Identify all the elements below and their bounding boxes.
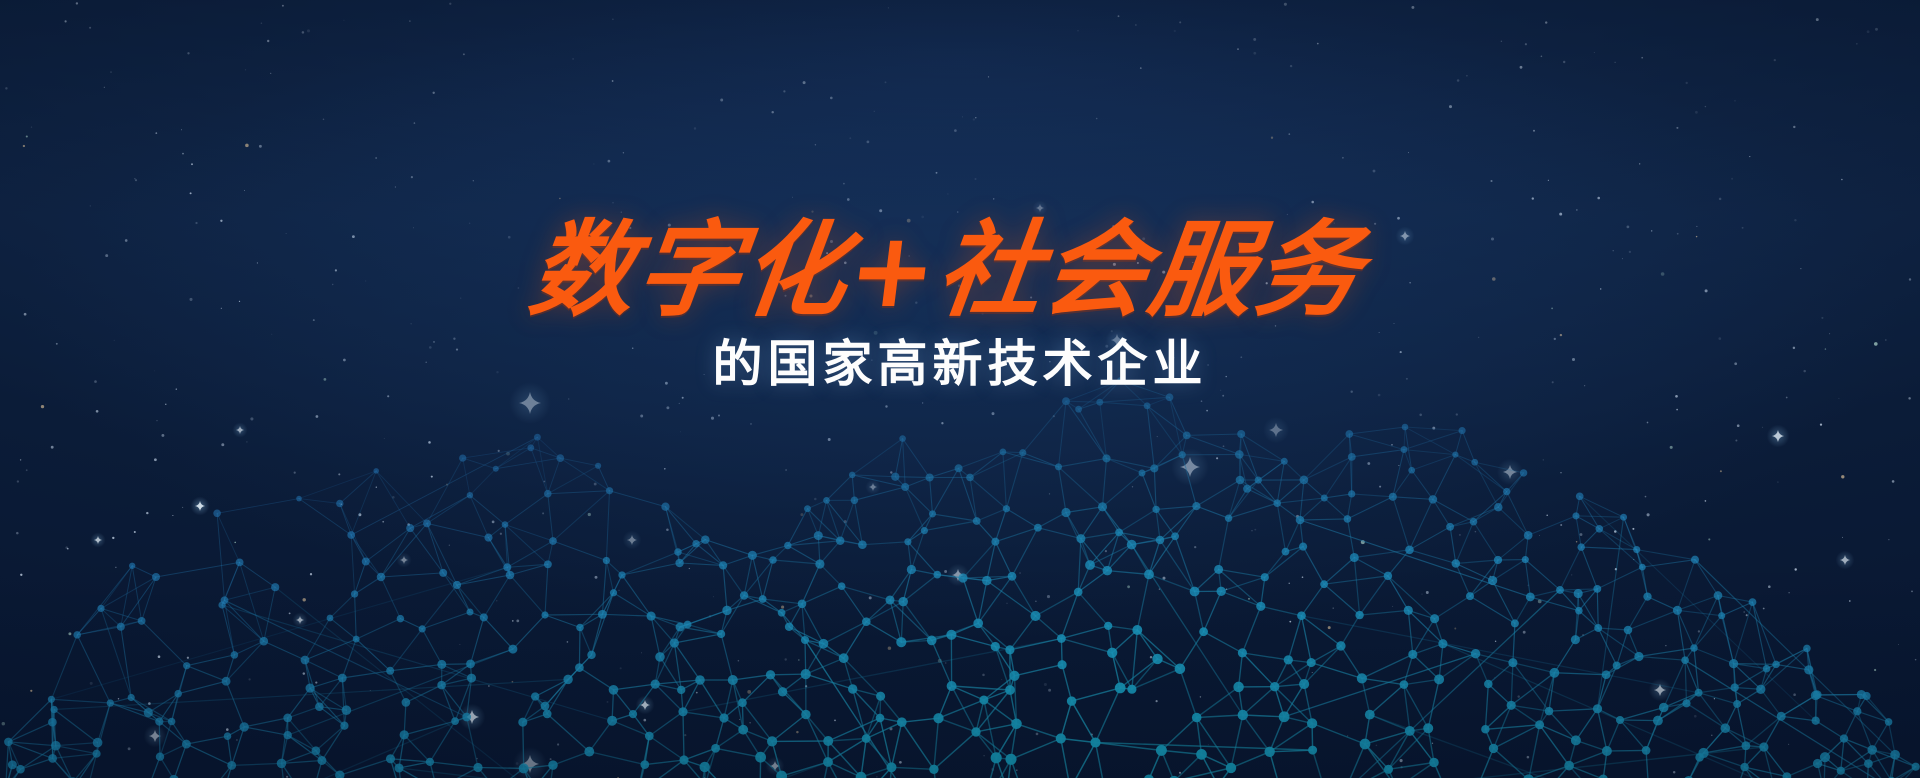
page-title: 数字化+社会服务 [0,0,1920,322]
page-subtitle: 的国家高新技术企业 [0,322,1920,391]
hero-banner: 数字化+社会服务 的国家高新技术企业 [0,0,1920,778]
banner-content: 数字化+社会服务 的国家高新技术企业 [0,0,1920,391]
